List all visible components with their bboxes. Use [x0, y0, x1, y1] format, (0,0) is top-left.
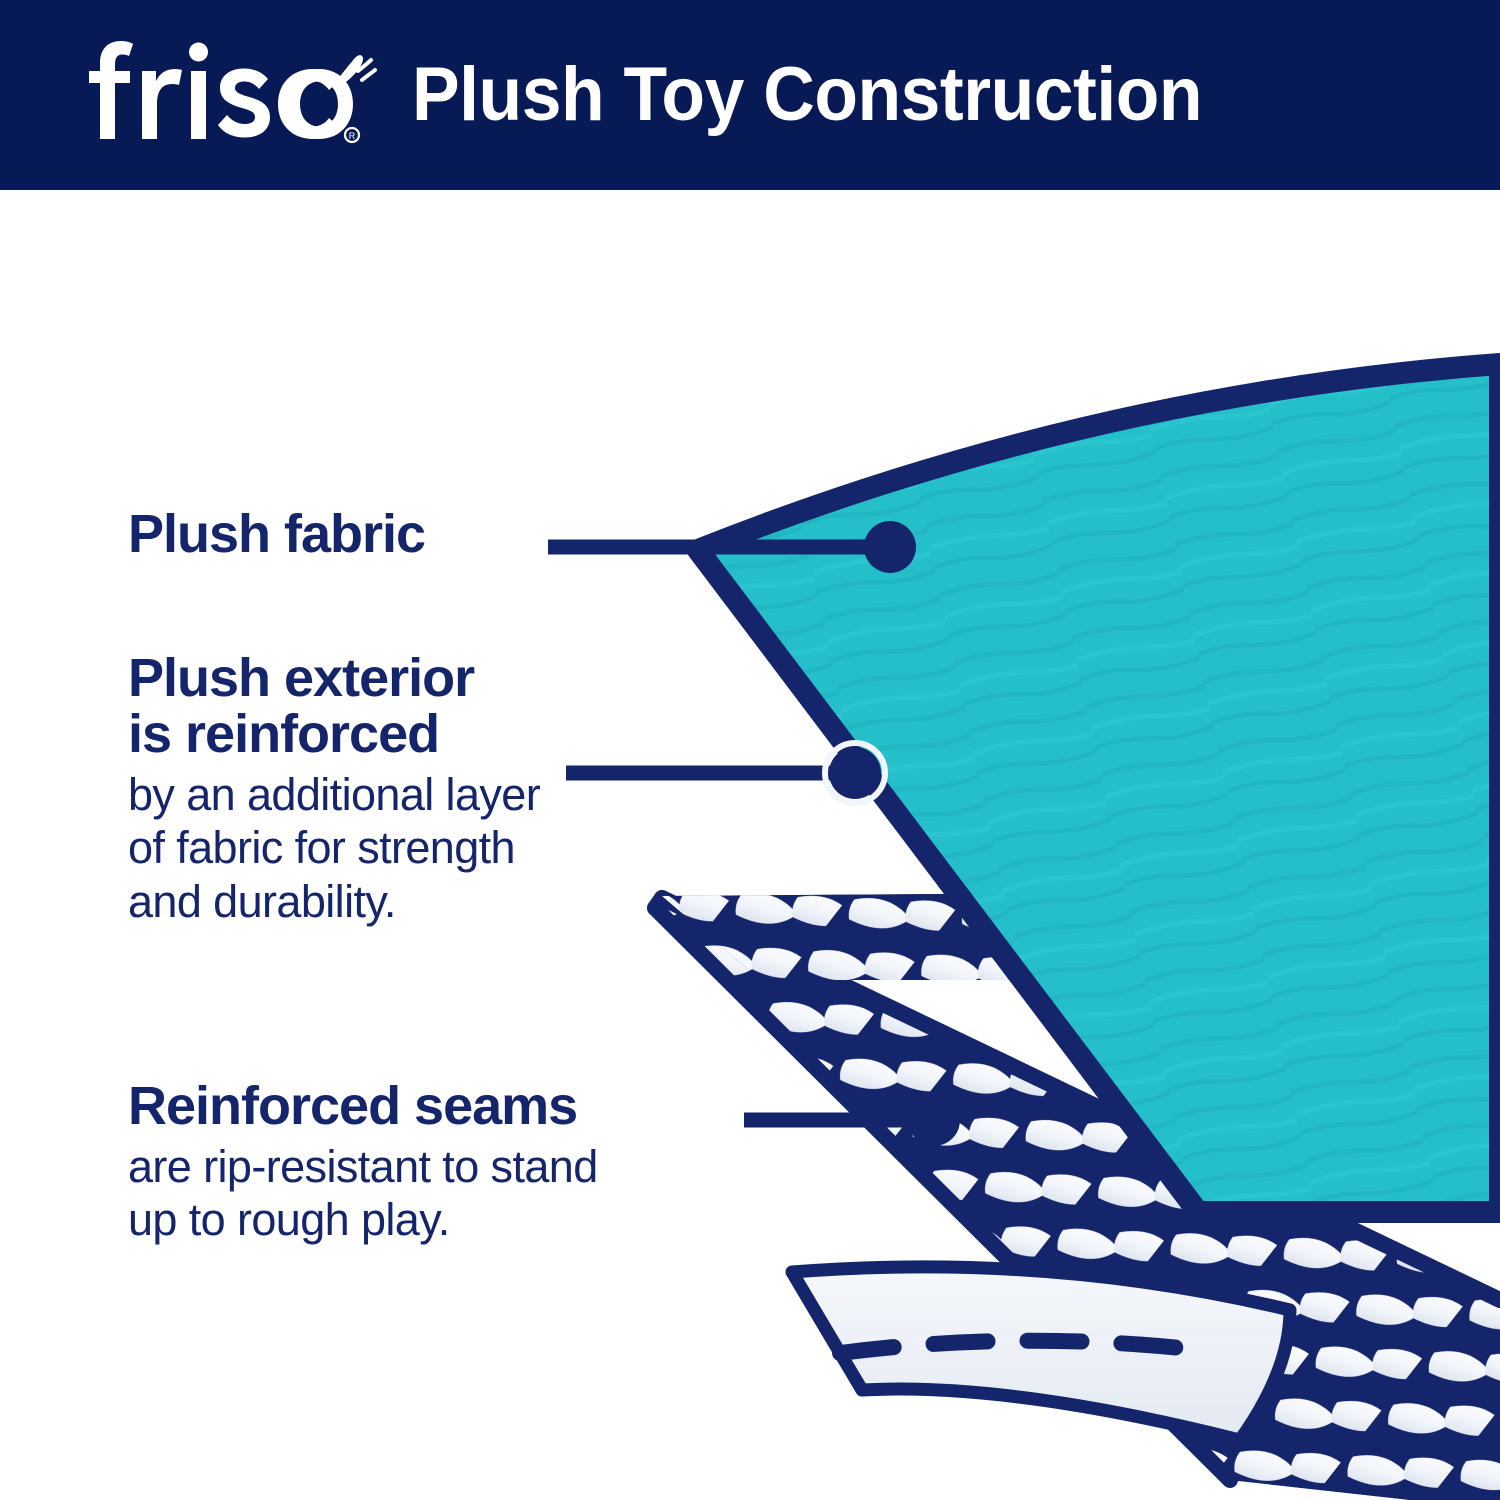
- callout-reinforced-seams: Reinforced seams are rip-resistant to st…: [128, 1078, 598, 1246]
- callout-heading-plush-fabric: Plush fabric: [128, 506, 425, 562]
- infographic-page: R Plush Toy Construction: [0, 0, 1500, 1500]
- callout-plush-fabric: Plush fabric: [128, 506, 425, 562]
- callout-plush-exterior: Plush exterior is reinforced by an addit…: [128, 650, 540, 928]
- page-title: Plush Toy Construction: [412, 57, 1202, 133]
- reinforced-seam-flap: [792, 1267, 1290, 1440]
- callout-heading-reinforced-seams: Reinforced seams: [128, 1078, 598, 1134]
- svg-text:R: R: [349, 131, 356, 141]
- callout-heading-plush-exterior: Plush exterior is reinforced: [128, 650, 540, 762]
- frisco-logo: R: [86, 35, 386, 155]
- marker-dot-reinforced-seams: [908, 1094, 960, 1146]
- callout-body-reinforced-seams: are rip-resistant to stand up to rough p…: [128, 1134, 598, 1246]
- header-bar: R Plush Toy Construction: [0, 0, 1500, 190]
- callout-body-plush-exterior: by an additional layer of fabric for str…: [128, 762, 540, 927]
- marker-dot-plush-fabric: [864, 521, 916, 573]
